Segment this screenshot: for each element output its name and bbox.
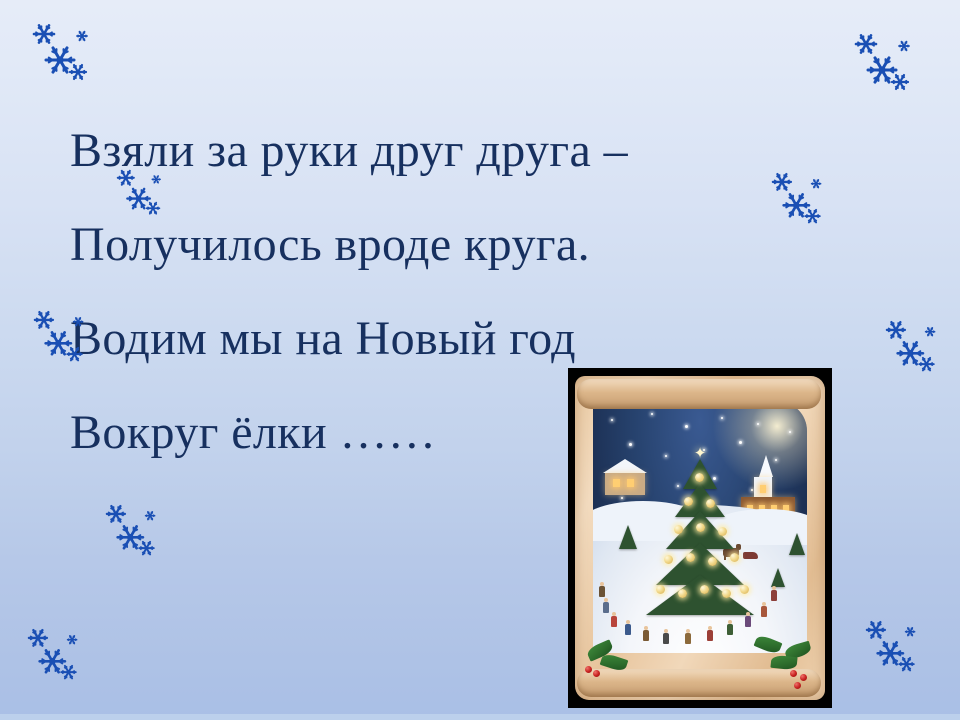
ornament	[740, 585, 749, 594]
small-fir-tree	[771, 568, 785, 587]
holly-berry	[593, 670, 600, 677]
child-figure	[727, 620, 733, 635]
cottage-roof	[603, 459, 647, 473]
ornament	[674, 525, 683, 534]
scroll-roll-top	[577, 379, 821, 409]
christmas-tree: ✦	[642, 451, 758, 617]
ornament	[708, 557, 717, 566]
star	[757, 423, 759, 425]
scroll-roll-bottom	[577, 669, 821, 697]
child-figure	[663, 629, 669, 644]
snowflake-cluster-lower-left	[100, 500, 167, 563]
ornament	[706, 499, 715, 508]
child-figure	[599, 582, 605, 597]
ornament	[730, 553, 739, 562]
tree-tier	[646, 575, 754, 615]
snowflake-cluster-bottom-right	[860, 616, 927, 679]
child-figure	[771, 586, 777, 601]
holly-berry	[800, 674, 807, 681]
child-figure	[611, 612, 617, 627]
snowflake-cluster-mid-right	[880, 316, 947, 379]
holly-berry	[794, 682, 801, 689]
small-fir-tree	[789, 533, 805, 555]
child-figure	[603, 598, 609, 613]
ornament	[718, 527, 727, 536]
card-scene: ✦	[573, 373, 827, 703]
ornament	[664, 555, 673, 564]
star	[685, 425, 688, 428]
small-fir-tree	[619, 525, 637, 549]
child-figure	[685, 629, 691, 644]
church-spire	[759, 455, 773, 477]
christmas-card-image: ✦	[568, 368, 832, 708]
lit-window	[613, 479, 620, 487]
ornament	[695, 473, 704, 482]
verse-line-1: Взяли за руки друг друга –	[70, 104, 870, 198]
star	[789, 431, 791, 433]
snowflake-cluster-top-right	[848, 28, 922, 98]
star	[739, 441, 742, 444]
child-figure	[745, 612, 751, 627]
child-figure	[625, 620, 631, 635]
village-night-scene: ✦	[593, 401, 807, 653]
child-figure	[643, 626, 649, 641]
ornament	[656, 585, 665, 594]
star	[651, 413, 653, 415]
church-window	[760, 485, 766, 493]
ornament	[722, 589, 731, 598]
star	[611, 419, 613, 421]
star	[775, 459, 777, 461]
ornament	[686, 553, 695, 562]
verse-line-2: Получилось вроде круга.	[70, 198, 870, 292]
ornament	[678, 589, 687, 598]
ornament	[700, 585, 709, 594]
child-figure	[761, 602, 767, 617]
star	[621, 497, 623, 499]
cottage	[605, 473, 645, 495]
holly-berry	[585, 666, 592, 673]
snowflake-cluster-top-left	[26, 18, 100, 88]
star	[629, 443, 632, 446]
snowflake-cluster-bottom-left	[22, 624, 89, 687]
ornament	[696, 523, 705, 532]
lit-window	[627, 479, 634, 487]
holly-berry	[790, 670, 797, 677]
child-figure	[707, 626, 713, 641]
bottom-edge-strip	[0, 714, 960, 720]
ornament	[684, 497, 693, 506]
slide-canvas: Взяли за руки друг друга – Получилось вр…	[0, 0, 960, 720]
star	[721, 417, 723, 419]
